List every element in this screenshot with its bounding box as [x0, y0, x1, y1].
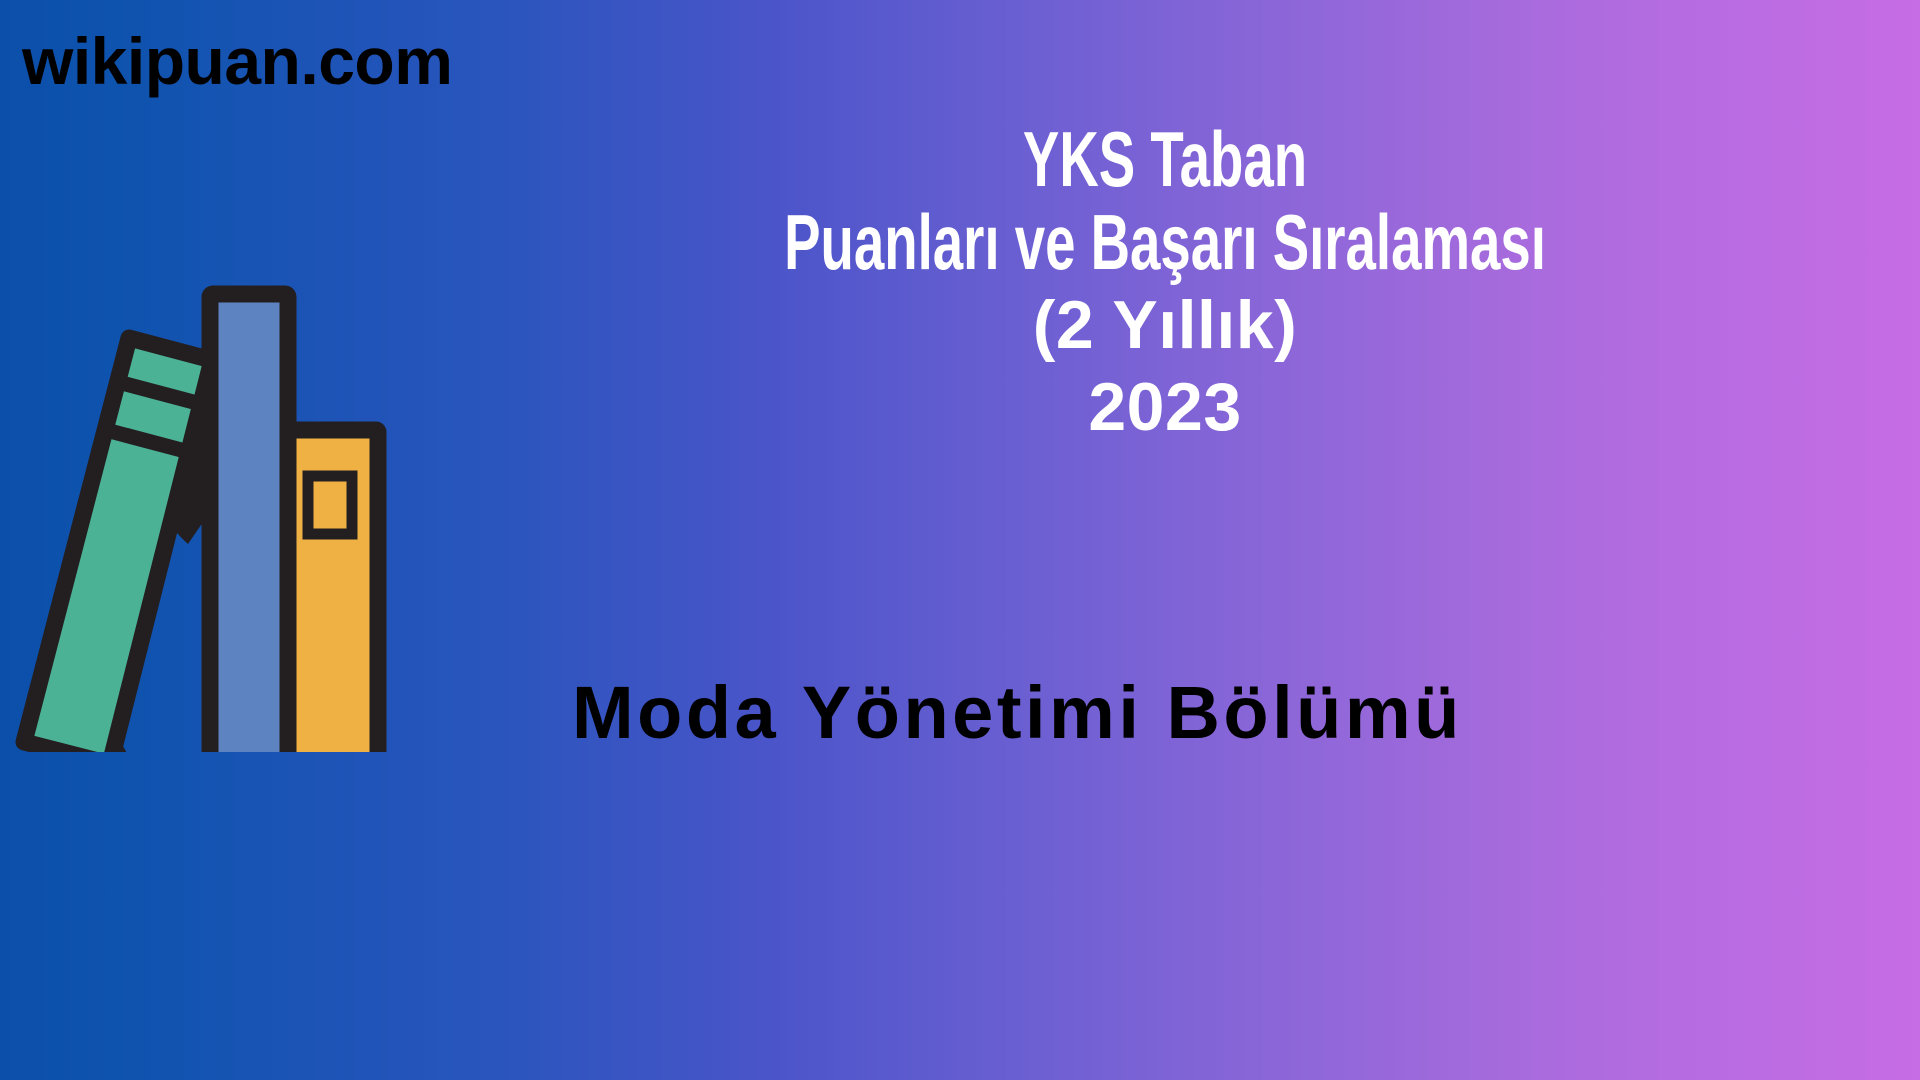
- poster-title: YKS Taban Puanları ve Başarı Sıralaması …: [560, 118, 1770, 444]
- green-tilted-book: [24, 338, 212, 752]
- poster-canvas: wikipuan.com: [0, 0, 1920, 1080]
- title-line-4-year: 2023: [560, 371, 1770, 443]
- illustration-svg: [0, 272, 600, 752]
- title-line-2: Puanları ve Başarı Sıralaması: [742, 201, 1589, 284]
- blue-standing-book: [210, 294, 288, 752]
- site-watermark: wikipuan.com: [22, 28, 452, 94]
- orange-standing-book: [288, 430, 378, 752]
- title-line-3: (2 Yıllık): [560, 289, 1770, 361]
- books-and-lamp-illustration: [0, 272, 600, 752]
- blue-book-cover: [210, 294, 288, 752]
- department-title: Moda Yönetimi Bölümü: [572, 676, 1463, 750]
- title-line-1: YKS Taban: [742, 118, 1589, 201]
